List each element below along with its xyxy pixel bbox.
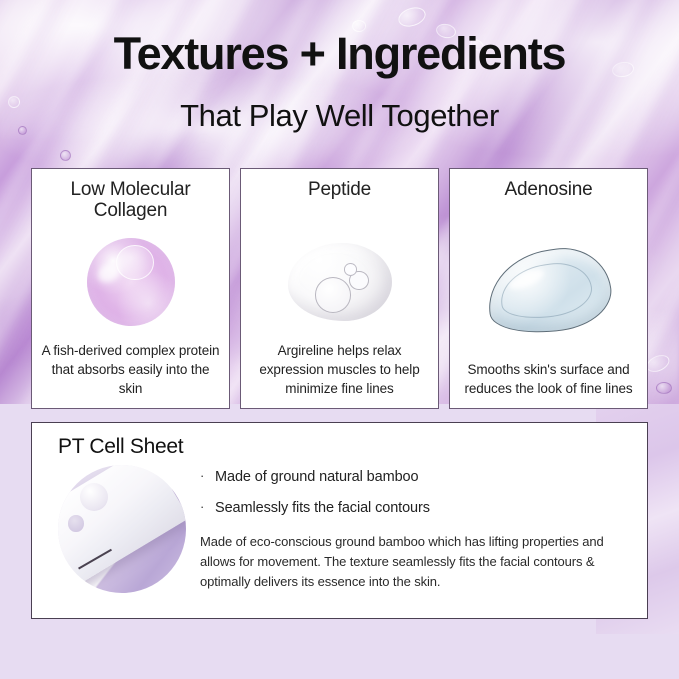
ingredient-card-list: Low Molecular Collagen A fish-derived co… xyxy=(31,168,648,409)
card-description: Smooths skin's surface and reduces the l… xyxy=(458,360,639,400)
card-title: Low Molecular Collagen xyxy=(40,179,221,223)
list-item: · Made of ground natural bamboo xyxy=(200,469,631,486)
pt-cell-sheet-title: PT Cell Sheet xyxy=(58,435,631,459)
list-item-label: Seamlessly fits the facial contours xyxy=(215,500,430,516)
pt-cell-sheet-photo xyxy=(58,465,186,593)
card-description: Argireline helps relax expression muscle… xyxy=(249,341,430,400)
card-description: A fish-derived complex protein that abso… xyxy=(40,341,221,400)
ingredient-card-adenosine: Adenosine Smooths skin's surface and red… xyxy=(449,168,648,409)
card-title: Adenosine xyxy=(505,179,593,223)
list-item-label: Made of ground natural bamboo xyxy=(215,469,418,485)
ingredient-card-collagen: Low Molecular Collagen A fish-derived co… xyxy=(31,168,230,409)
infographic-page: Textures + Ingredients That Play Well To… xyxy=(0,0,679,679)
pt-cell-sheet-body: · Made of ground natural bamboo · Seamle… xyxy=(58,465,631,593)
page-title: Textures + Ingredients xyxy=(0,31,679,76)
pt-cell-sheet-text: · Made of ground natural bamboo · Seamle… xyxy=(200,465,631,592)
ingredient-card-peptide: Peptide Argireline helps relax expressio… xyxy=(240,168,439,409)
adenosine-gel-droplet-icon xyxy=(458,223,639,360)
header: Textures + Ingredients That Play Well To… xyxy=(0,0,679,152)
page-subtitle: That Play Well Together xyxy=(0,100,679,131)
collagen-bubble-icon xyxy=(40,223,221,341)
peptide-cream-blob-icon xyxy=(249,223,430,341)
bullet-marker: · xyxy=(200,499,204,515)
pt-cell-sheet-paragraph: Made of eco-conscious ground bamboo whic… xyxy=(200,532,631,592)
pt-cell-sheet-bullets: · Made of ground natural bamboo · Seamle… xyxy=(200,469,631,518)
pt-cell-sheet-panel: PT Cell Sheet · Made of ground natural b… xyxy=(31,422,648,619)
bullet-marker: · xyxy=(200,468,204,484)
card-title: Peptide xyxy=(308,179,371,223)
list-item: · Seamlessly fits the facial contours xyxy=(200,500,631,517)
